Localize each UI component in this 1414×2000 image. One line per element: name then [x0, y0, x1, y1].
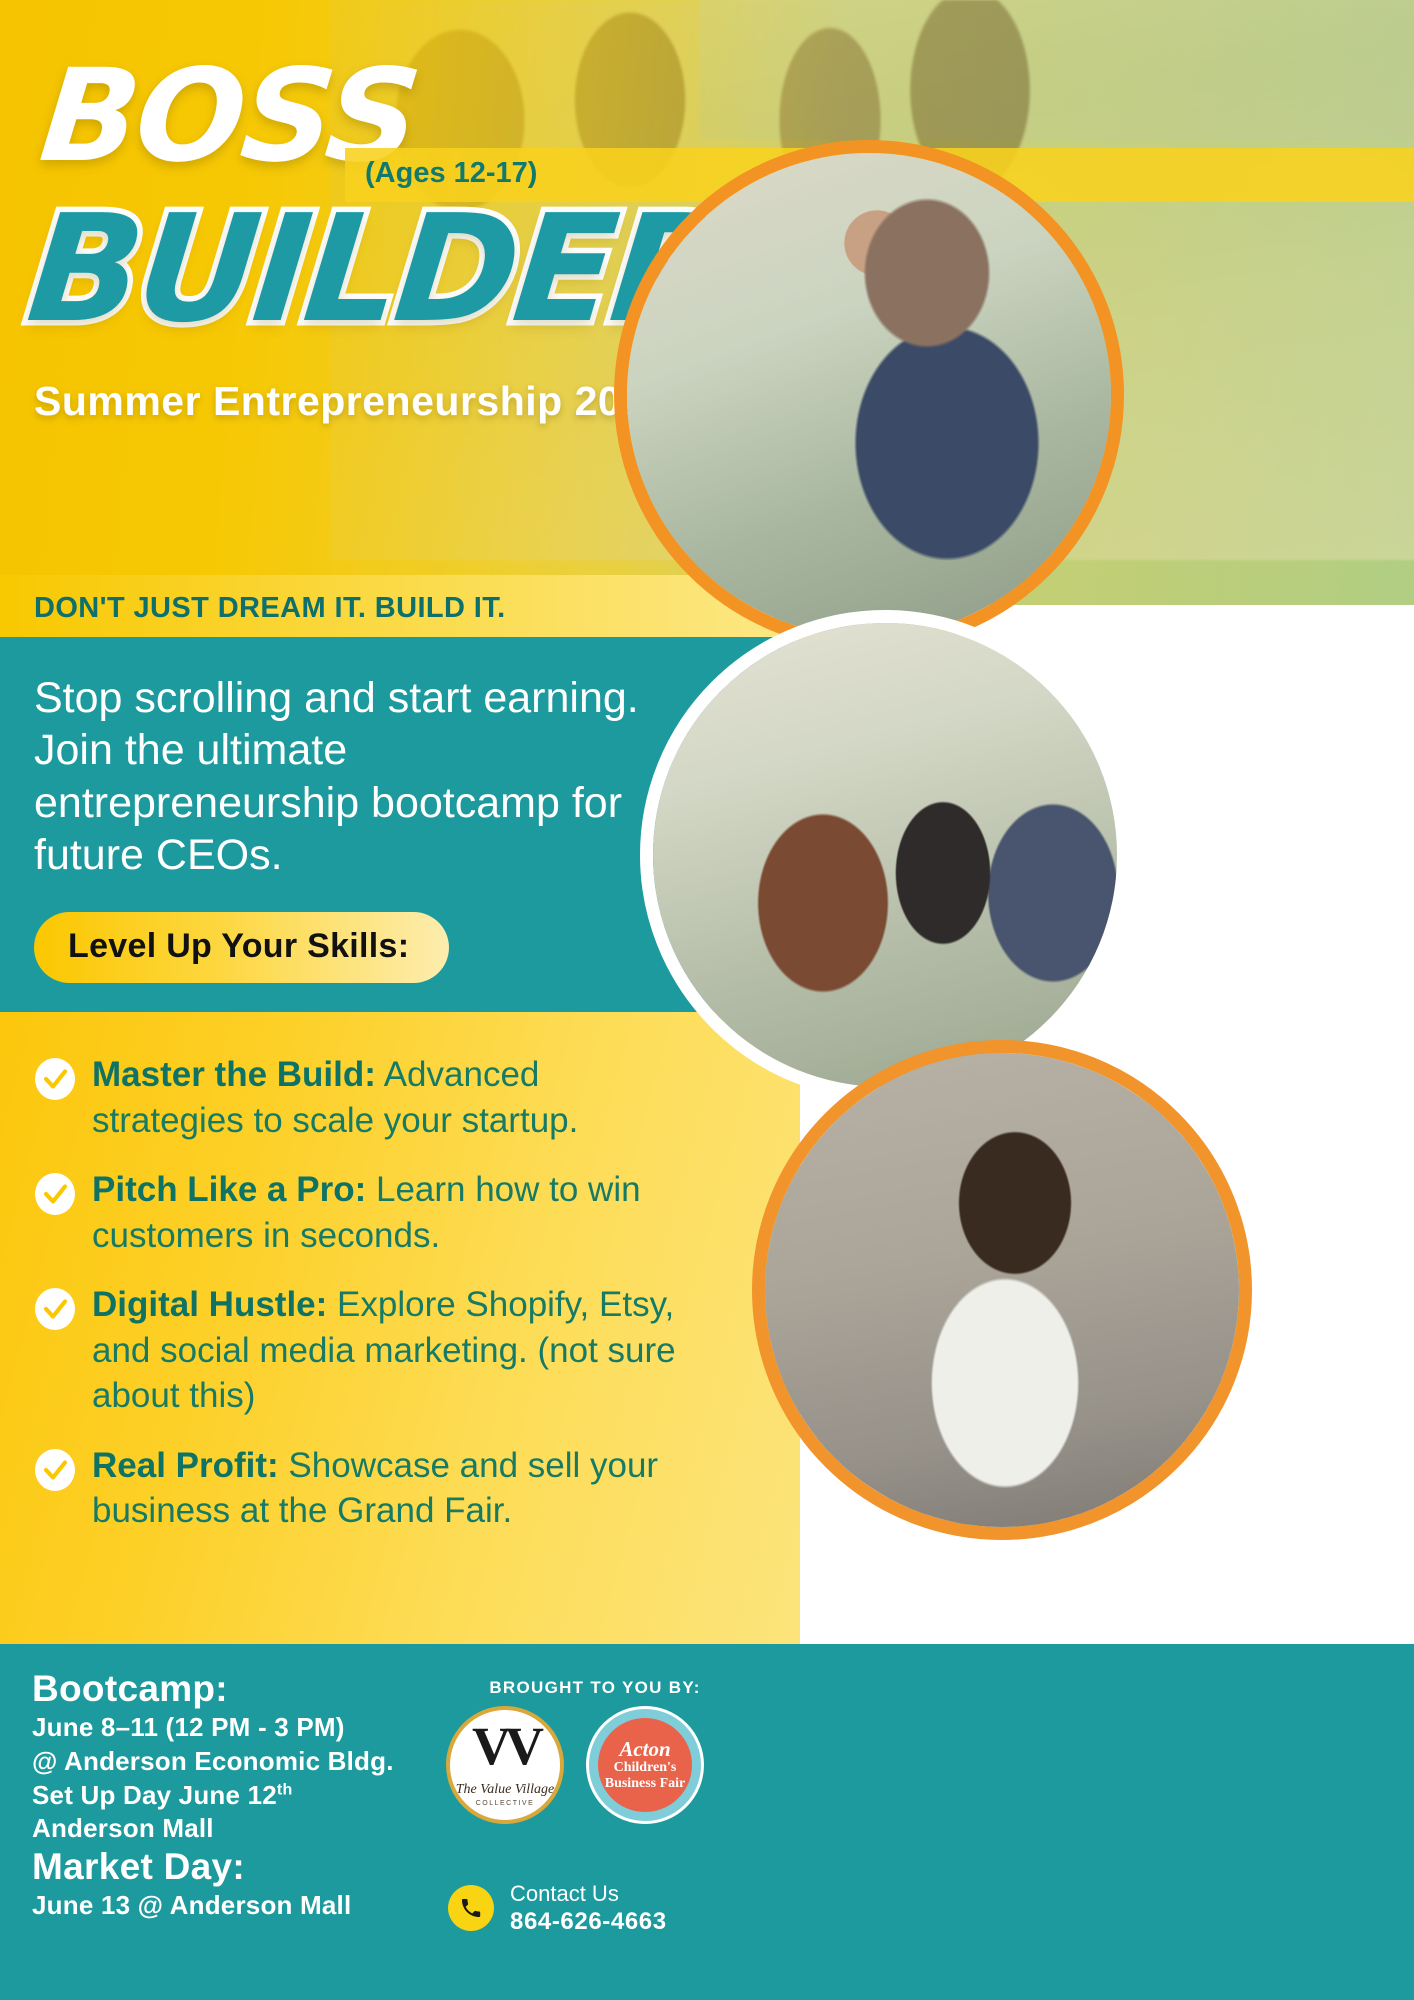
feature-title: Real Profit: — [92, 1446, 279, 1485]
phone-icon — [448, 1885, 494, 1931]
photo-student-podium-image — [765, 1053, 1239, 1527]
tagline-text: DON'T JUST DREAM IT. BUILD IT. — [34, 592, 506, 625]
feature-item: Real Profit: Showcase and sell your busi… — [34, 1443, 694, 1534]
contact-row[interactable]: Contact Us 864-626-4663 — [448, 1880, 667, 1936]
footer-event-details: Bootcamp: June 8–11 (12 PM - 3 PM) @ And… — [32, 1668, 462, 1923]
contact-text-block: Contact Us 864-626-4663 — [510, 1880, 667, 1936]
photo-student-laptop — [614, 140, 1124, 650]
logo-value-village[interactable]: VV The Value Village COLLECTIVE — [446, 1706, 564, 1824]
check-circle-icon — [34, 1288, 76, 1330]
check-circle-icon — [34, 1058, 76, 1100]
check-circle-icon — [34, 1449, 76, 1491]
sponsor-logos: VV The Value Village COLLECTIVE Acton Ch… — [446, 1706, 704, 1824]
setup-day-line: Set Up Day June 12th — [32, 1779, 462, 1813]
acton-script-name: Acton — [619, 1739, 670, 1760]
skills-pill-label: Level Up Your Skills: — [68, 927, 409, 965]
photo-student-laptop-image — [627, 153, 1111, 637]
logo-acton-childrens-business-fair[interactable]: Acton Children's Business Fair — [586, 1706, 704, 1824]
contact-phone-number[interactable]: 864-626-4663 — [510, 1908, 667, 1936]
feature-text: Pitch Like a Pro: Learn how to win custo… — [92, 1167, 694, 1258]
market-day-details: June 13 @ Anderson Mall — [32, 1889, 462, 1923]
acton-line2: Business Fair — [605, 1776, 686, 1791]
value-village-subtitle: COLLECTIVE — [450, 1800, 560, 1807]
skills-pill-badge: Level Up Your Skills: — [34, 912, 449, 983]
feature-text: Digital Hustle: Explore Shopify, Etsy, a… — [92, 1282, 694, 1419]
value-village-monogram: VV — [450, 1722, 560, 1771]
setup-day-text: Set Up Day June 12 — [32, 1780, 277, 1810]
contact-label: Contact Us — [510, 1880, 667, 1908]
feature-title: Digital Hustle: — [92, 1285, 327, 1324]
feature-item: Master the Build: Advanced strategies to… — [34, 1052, 694, 1143]
check-circle-icon — [34, 1173, 76, 1215]
market-day-heading: Market Day: — [32, 1846, 462, 1889]
photo-student-podium — [752, 1040, 1252, 1540]
bootcamp-heading: Bootcamp: — [32, 1668, 462, 1711]
feature-title: Master the Build: — [92, 1055, 376, 1094]
photo-students-classroom-image — [653, 623, 1117, 1087]
feature-text: Master the Build: Advanced strategies to… — [92, 1052, 694, 1143]
flyer-poster: BOSS (Ages 12-17) BUILDERS Summer Entrep… — [0, 0, 1414, 2000]
photo-students-classroom — [640, 610, 1130, 1100]
bootcamp-dates: June 8–11 (12 PM - 3 PM) — [32, 1711, 462, 1745]
intro-body-text: Stop scrolling and start earning. Join t… — [34, 672, 674, 882]
value-village-name: The Value Village — [450, 1782, 560, 1798]
page-subtitle: Summer Entrepreneurship 2026 — [34, 378, 668, 425]
feature-title: Pitch Like a Pro: — [92, 1170, 366, 1209]
setup-venue: Anderson Mall — [32, 1812, 462, 1846]
feature-item: Pitch Like a Pro: Learn how to win custo… — [34, 1167, 694, 1258]
feature-text: Real Profit: Showcase and sell your busi… — [92, 1443, 694, 1534]
brought-to-you-by-label: BROUGHT TO YOU BY: — [450, 1678, 740, 1698]
features-list: Master the Build: Advanced strategies to… — [34, 1052, 694, 1558]
acton-line1: Children's — [614, 1760, 677, 1775]
acton-inner-circle: Acton Children's Business Fair — [598, 1718, 692, 1812]
setup-day-ordinal: th — [277, 1781, 293, 1798]
bootcamp-venue: @ Anderson Economic Bldg. — [32, 1745, 462, 1779]
feature-item: Digital Hustle: Explore Shopify, Etsy, a… — [34, 1282, 694, 1419]
